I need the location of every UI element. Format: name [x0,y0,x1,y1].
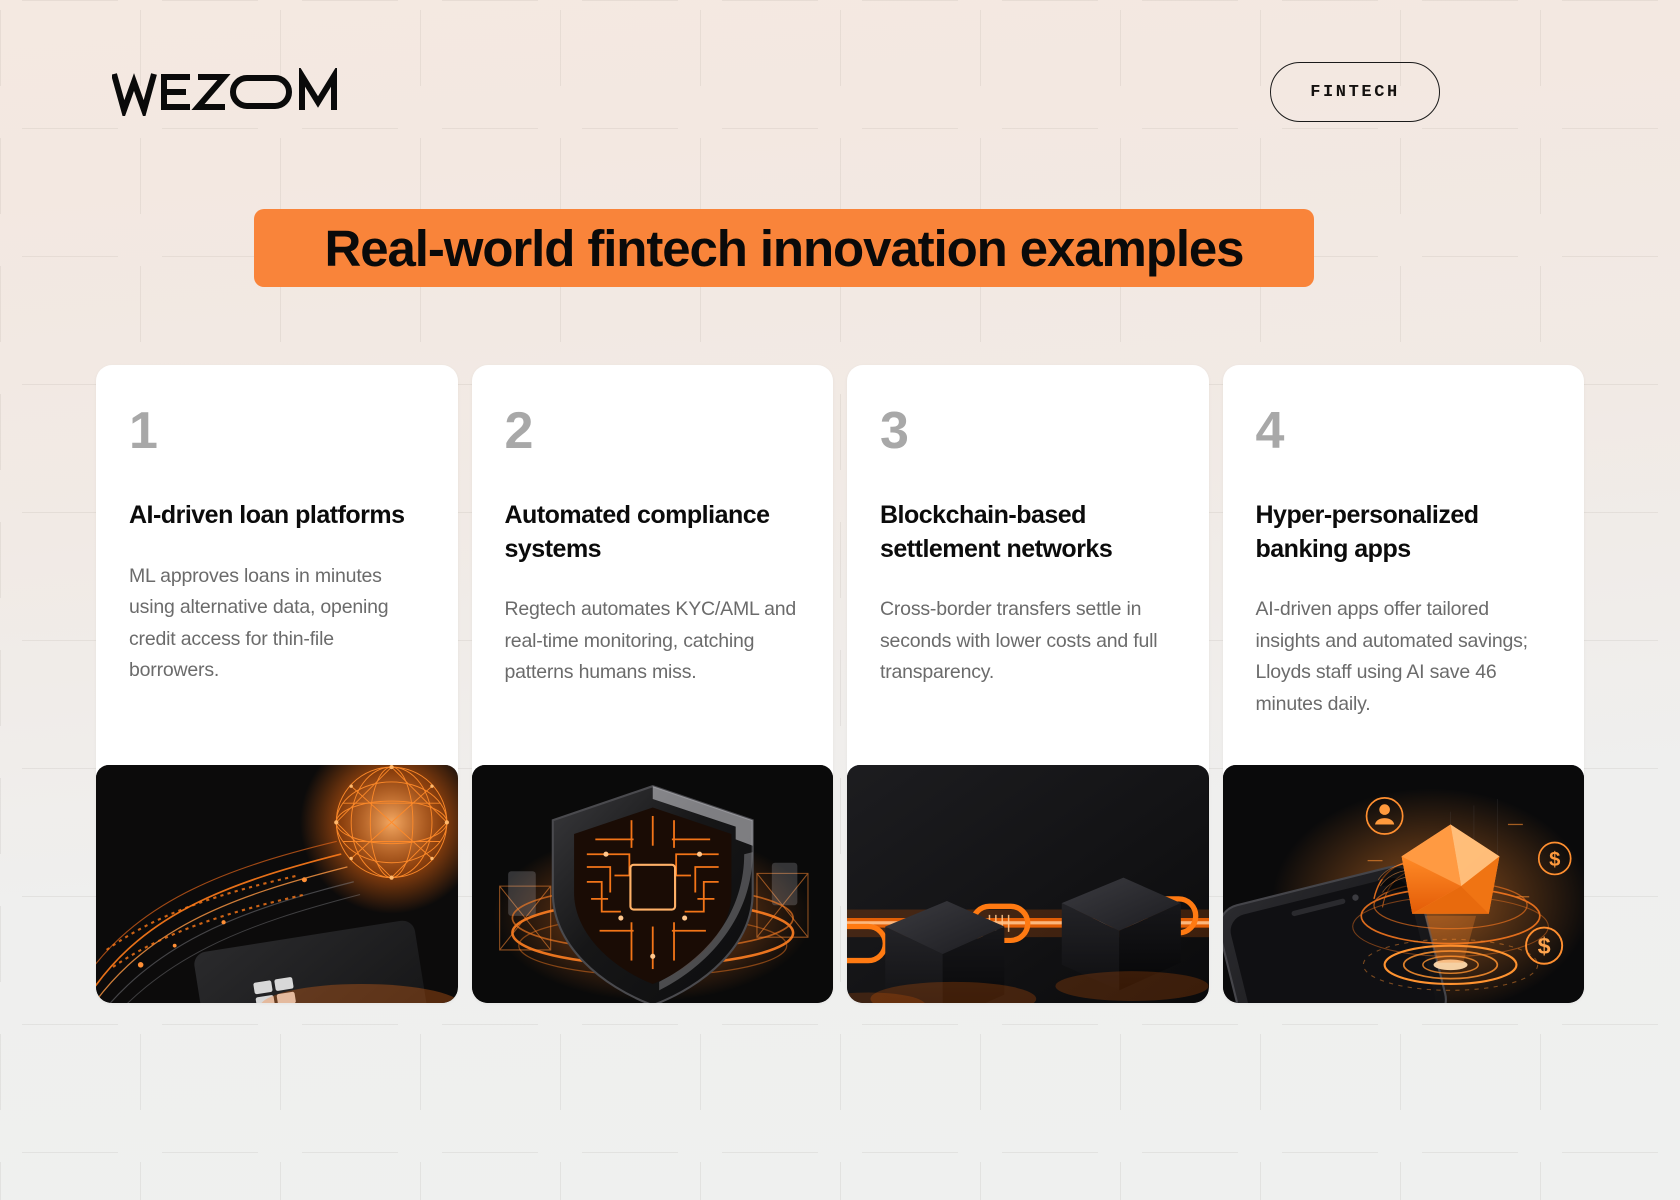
svg-text:$: $ [1549,849,1560,871]
card-3-title: Blockchain-based settlement networks [880,499,1176,566]
card-3[interactable]: 3 Blockchain-based settlement networks C… [847,365,1209,1003]
card-2-title: Automated compliance systems [505,499,801,566]
page-title: Real-world fintech innovation examples [325,223,1244,274]
banking-app-hologram-illustration: $ $ [1223,765,1585,1003]
card-2-image [472,765,834,1003]
card-1-text: ML approves loans in minutes using alter… [129,561,425,687]
cards-row: 1 AI-driven loan platforms ML approves l… [96,365,1584,1003]
card-4-title: Hyper-personalized banking apps [1256,499,1552,566]
page-header: FINTECH [0,0,1680,150]
svg-text:$: $ [1537,933,1550,959]
card-3-number: 3 [880,405,1176,457]
card-4-image: $ $ [1223,765,1585,1003]
card-2-body: 2 Automated compliance systems Regtech a… [472,365,834,689]
card-3-image [847,765,1209,1003]
fintech-badge[interactable]: FINTECH [1270,62,1440,122]
blockchain-settlement-illustration [847,765,1209,1003]
card-2[interactable]: 2 Automated compliance systems Regtech a… [472,365,834,1003]
card-1[interactable]: 1 AI-driven loan platforms ML approves l… [96,365,458,1003]
wezom-logo-m-icon [298,68,356,116]
card-1-number: 1 [129,405,425,457]
fintech-badge-label: FINTECH [1310,83,1400,102]
card-1-title: AI-driven loan platforms [129,499,425,533]
card-2-number: 2 [505,405,801,457]
compliance-shield-illustration [472,765,834,1003]
card-4-body: 4 Hyper-personalized banking apps AI-dri… [1223,365,1585,720]
card-3-text: Cross-border transfers settle in seconds… [880,594,1176,689]
card-1-image [96,765,458,1003]
card-2-text: Regtech automates KYC/AML and real-time … [505,594,801,689]
wezom-logo[interactable] [112,68,356,116]
card-4-number: 4 [1256,405,1552,457]
title-banner: Real-world fintech innovation examples [254,209,1314,287]
ai-loan-platform-illustration [96,765,458,1003]
wezom-logo-icon [112,68,312,116]
card-1-body: 1 AI-driven loan platforms ML approves l… [96,365,458,687]
card-4-text: AI-driven apps offer tailored insights a… [1256,594,1552,720]
card-3-body: 3 Blockchain-based settlement networks C… [847,365,1209,689]
card-4[interactable]: 4 Hyper-personalized banking apps AI-dri… [1223,365,1585,1003]
